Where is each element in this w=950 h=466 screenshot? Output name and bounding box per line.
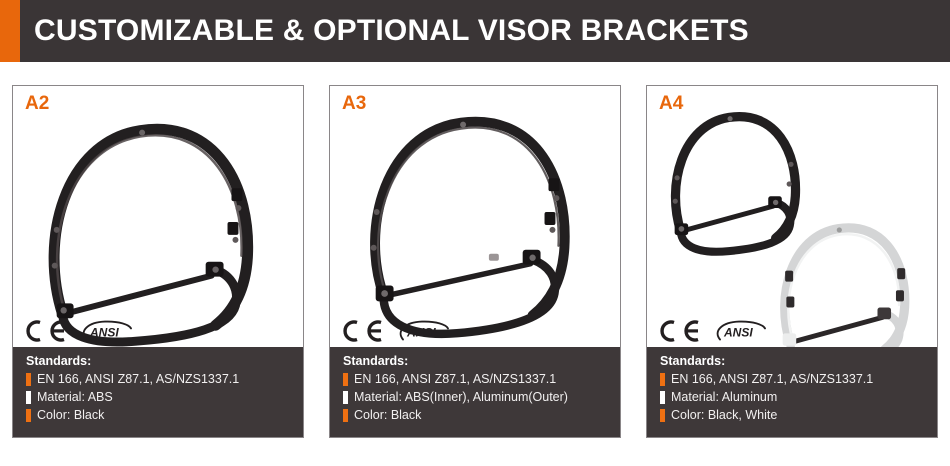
spec-bullet-icon <box>660 409 665 422</box>
certification-marks: ANSI <box>23 319 133 343</box>
spec-text: Material: Aluminum <box>671 389 777 406</box>
product-card[interactable]: A2 <box>12 85 304 438</box>
spec-bullet-icon <box>343 373 348 386</box>
spec-bullet-icon <box>660 391 665 404</box>
product-spec-panel: Standards: EN 166, ANSI Z87.1, AS/NZS133… <box>647 347 937 437</box>
spec-bullet-icon <box>343 409 348 422</box>
spec-text: Color: Black <box>354 407 421 424</box>
product-spec-panel: Standards: EN 166, ANSI Z87.1, AS/NZS133… <box>330 347 620 437</box>
spec-bullet-icon <box>26 373 31 386</box>
spec-text: Material: ABS(Inner), Aluminum(Outer) <box>354 389 568 406</box>
spec-row: Color: Black <box>26 407 303 424</box>
visor-bracket-white <box>783 227 906 347</box>
ansi-mark-icon: ANSI <box>713 319 767 343</box>
header-accent-bar <box>0 0 20 62</box>
ce-mark-icon <box>23 319 69 343</box>
ce-mark-icon <box>340 319 386 343</box>
spec-bullet-icon <box>26 409 31 422</box>
ce-mark-icon <box>657 319 703 343</box>
visor-bracket-image <box>13 86 303 347</box>
product-code-label: A4 <box>659 93 683 115</box>
spec-text: EN 166, ANSI Z87.1, AS/NZS1337.1 <box>37 371 239 388</box>
spec-text: EN 166, ANSI Z87.1, AS/NZS1337.1 <box>354 371 556 388</box>
spec-heading: Standards: <box>343 353 620 370</box>
spec-row: Material: Aluminum <box>660 389 937 406</box>
visor-bracket-image <box>330 86 620 347</box>
spec-bullet-icon <box>343 391 348 404</box>
spec-row: Material: ABS <box>26 389 303 406</box>
spec-heading: Standards: <box>660 353 937 370</box>
product-card[interactable]: A3 <box>329 85 621 438</box>
product-image-area: A3 <box>330 86 620 347</box>
spec-row: Color: Black <box>343 407 620 424</box>
spec-row: Material: ABS(Inner), Aluminum(Outer) <box>343 389 620 406</box>
spec-bullet-icon <box>660 373 665 386</box>
page-root: CUSTOMIZABLE & OPTIONAL VISOR BRACKETS A… <box>0 0 950 466</box>
spec-text: Color: Black, White <box>671 407 777 424</box>
page-header: CUSTOMIZABLE & OPTIONAL VISOR BRACKETS <box>0 0 950 62</box>
spec-row: EN 166, ANSI Z87.1, AS/NZS1337.1 <box>26 371 303 388</box>
spec-text: Material: ABS <box>37 389 113 406</box>
product-card-list: A2 <box>12 85 938 438</box>
visor-bracket-black <box>673 116 796 252</box>
ansi-text: ANSI <box>89 326 119 340</box>
product-code-label: A3 <box>342 93 366 115</box>
spec-row: Color: Black, White <box>660 407 937 424</box>
spec-text: Color: Black <box>37 407 104 424</box>
spec-heading: Standards: <box>26 353 303 370</box>
product-image-area: A2 <box>13 86 303 347</box>
page-title: CUSTOMIZABLE & OPTIONAL VISOR BRACKETS <box>34 14 749 48</box>
spec-row: EN 166, ANSI Z87.1, AS/NZS1337.1 <box>343 371 620 388</box>
ansi-mark-icon: ANSI <box>396 319 450 343</box>
product-image-area: A4 <box>647 86 937 347</box>
ansi-text: ANSI <box>406 326 436 340</box>
product-code-label: A2 <box>25 93 49 115</box>
product-card[interactable]: A4 <box>646 85 938 438</box>
ansi-text: ANSI <box>723 326 753 340</box>
certification-marks: ANSI <box>657 319 767 343</box>
visor-bracket-image <box>647 86 937 347</box>
spec-bullet-icon <box>26 391 31 404</box>
certification-marks: ANSI <box>340 319 450 343</box>
spec-row: EN 166, ANSI Z87.1, AS/NZS1337.1 <box>660 371 937 388</box>
spec-text: EN 166, ANSI Z87.1, AS/NZS1337.1 <box>671 371 873 388</box>
product-spec-panel: Standards: EN 166, ANSI Z87.1, AS/NZS133… <box>13 347 303 437</box>
ansi-mark-icon: ANSI <box>79 319 133 343</box>
